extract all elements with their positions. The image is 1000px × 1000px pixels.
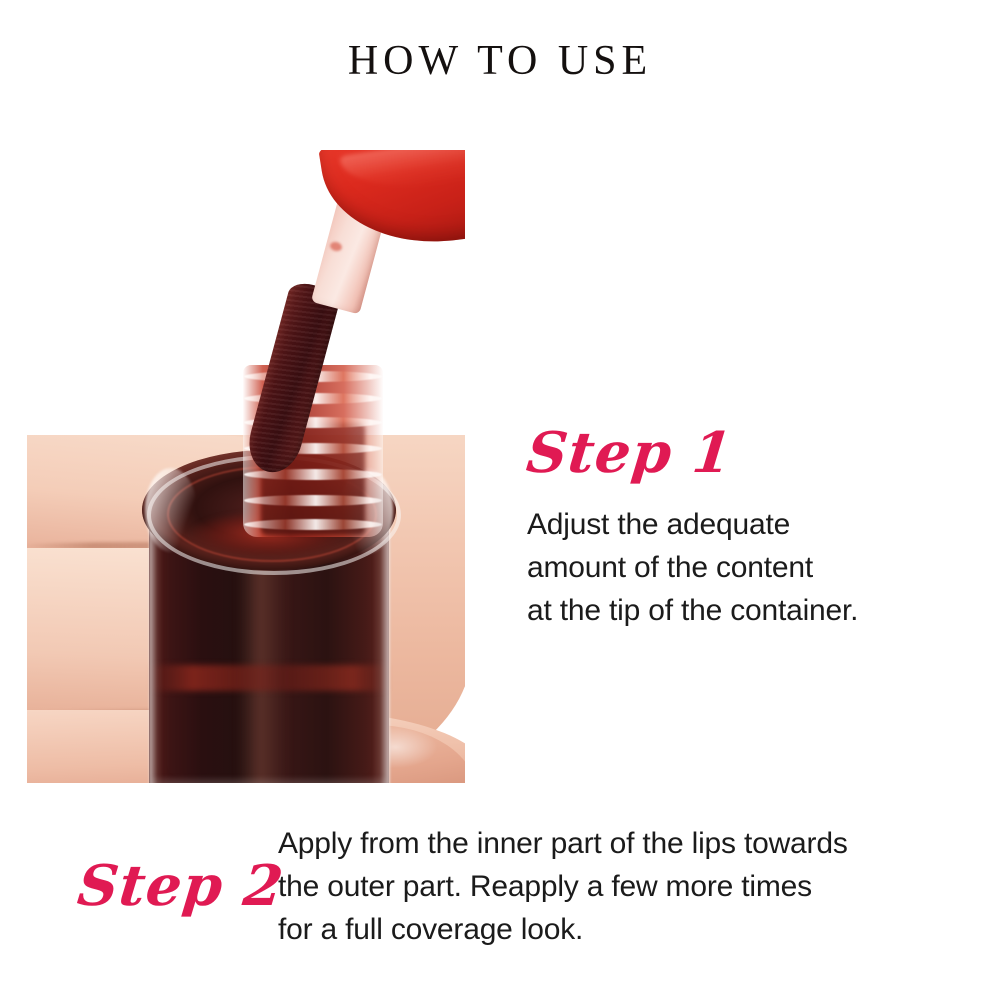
step-2-line-1: Apply from the inner part of the lips to… xyxy=(278,822,978,865)
step-1-line-2: amount of the content xyxy=(527,546,967,589)
step-1-body: Adjust the adequate amount of the conten… xyxy=(527,503,967,632)
step-2-label: Step 2 xyxy=(75,858,286,914)
neck-thread-7 xyxy=(244,519,382,530)
step-2-line-2: the outer part. Reapply a few more times xyxy=(278,865,978,908)
step-1-block: Step 1 Adjust the adequate amount of the… xyxy=(527,425,967,632)
product-photo xyxy=(27,150,465,783)
step-1-line-3: at the tip of the container. xyxy=(527,589,967,632)
step-1-line-1: Adjust the adequate xyxy=(527,503,967,546)
bottle-right-edge-highlight xyxy=(372,523,390,783)
page-title: HOW TO USE xyxy=(0,40,1000,82)
step-1-label: Step 1 xyxy=(524,425,735,481)
bottle-bottom-rim xyxy=(151,775,387,783)
neck-thread-6 xyxy=(244,495,382,506)
step-2-block: Step 2 Apply from the inner part of the … xyxy=(60,820,980,980)
bottle-left-edge-highlight xyxy=(149,523,163,783)
bottle-shoulder-highlight-left xyxy=(145,468,197,552)
step-2-body: Apply from the inner part of the lips to… xyxy=(278,822,978,951)
step-2-line-3: for a full coverage look. xyxy=(278,908,978,951)
how-to-use-page: HOW TO USE xyxy=(0,0,1000,1000)
product-photo-canvas xyxy=(27,150,465,783)
bottle-reflection-band xyxy=(149,665,389,691)
